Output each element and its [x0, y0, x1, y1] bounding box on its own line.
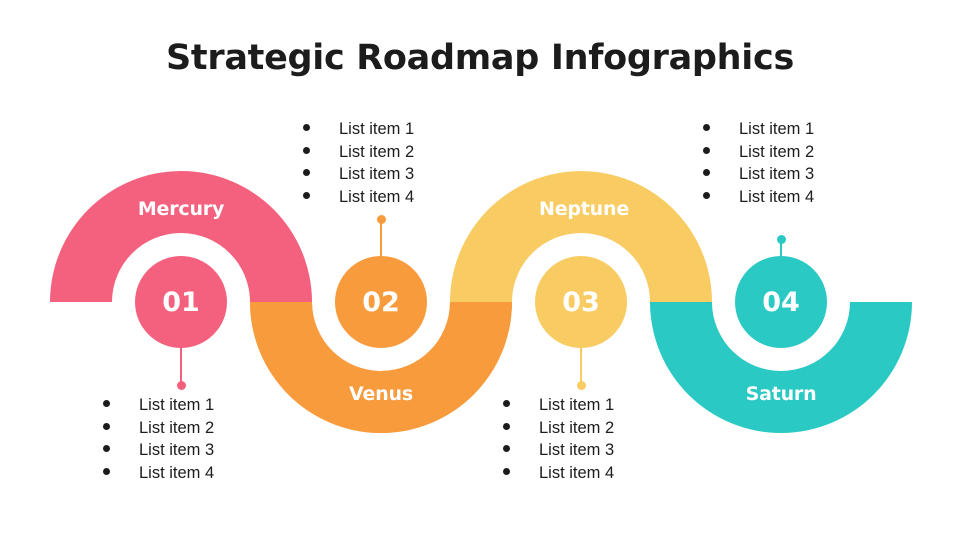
list-item: List item 2	[303, 143, 414, 166]
bullet-list-03: List item 1 List item 2 List item 3 List…	[503, 396, 614, 486]
bullet-dot-icon	[703, 192, 710, 199]
arc-label-neptune: Neptune	[539, 198, 629, 220]
list-item: List item 4	[303, 188, 414, 211]
connector-line-02	[380, 219, 382, 256]
connector-dot-01	[177, 381, 186, 390]
connector-dot-02	[377, 215, 386, 224]
list-item: List item 1	[503, 396, 614, 419]
list-item: List item 1	[703, 120, 814, 143]
bullet-dot-icon	[303, 192, 310, 199]
list-item-text: List item 4	[539, 464, 614, 483]
list-item: List item 1	[303, 120, 414, 143]
list-item: List item 3	[103, 441, 214, 464]
list-item-text: List item 1	[339, 120, 414, 139]
step-number-04: 04	[762, 289, 800, 316]
list-item: List item 3	[703, 165, 814, 188]
step-circle-02[interactable]: 02	[335, 256, 427, 348]
bullet-dot-icon	[103, 423, 110, 430]
bullet-dot-icon	[103, 400, 110, 407]
bullet-dot-icon	[503, 423, 510, 430]
bullet-dot-icon	[303, 124, 310, 131]
list-item: List item 1	[103, 396, 214, 419]
bullet-dot-icon	[503, 400, 510, 407]
bullet-list-02: List item 1 List item 2 List item 3 List…	[303, 120, 414, 210]
connector-line-01	[180, 348, 182, 385]
bullet-dot-icon	[703, 124, 710, 131]
list-item-text: List item 1	[539, 396, 614, 415]
list-item: List item 3	[303, 165, 414, 188]
arc-label-venus: Venus	[349, 383, 413, 405]
list-item-text: List item 2	[739, 143, 814, 162]
bullet-list-01: List item 1 List item 2 List item 3 List…	[103, 396, 214, 486]
step-circle-01[interactable]: 01	[135, 256, 227, 348]
list-item-text: List item 3	[539, 441, 614, 460]
step-number-01: 01	[162, 289, 200, 316]
arc-label-mercury: Mercury	[138, 198, 224, 220]
list-item-text: List item 4	[139, 464, 214, 483]
connector-dot-03	[577, 381, 586, 390]
list-item-text: List item 2	[139, 419, 214, 438]
arc-label-saturn: Saturn	[746, 383, 817, 405]
bullet-dot-icon	[303, 169, 310, 176]
slide-canvas: Strategic Roadmap Infographics	[0, 0, 960, 540]
list-item: List item 2	[503, 419, 614, 442]
bullet-dot-icon	[503, 468, 510, 475]
bullet-dot-icon	[303, 147, 310, 154]
list-item: List item 4	[103, 464, 214, 487]
list-item-text: List item 3	[739, 165, 814, 184]
step-number-02: 02	[362, 289, 400, 316]
list-item-text: List item 1	[139, 396, 214, 415]
list-item-text: List item 1	[739, 120, 814, 139]
list-item: List item 2	[703, 143, 814, 166]
list-item: List item 2	[103, 419, 214, 442]
bullet-dot-icon	[103, 445, 110, 452]
connector-line-03	[580, 348, 582, 385]
list-item-text: List item 4	[339, 188, 414, 207]
list-item: List item 4	[703, 188, 814, 211]
list-item: List item 4	[503, 464, 614, 487]
bullet-dot-icon	[503, 445, 510, 452]
list-item: List item 3	[503, 441, 614, 464]
bullet-list-04: List item 1 List item 2 List item 3 List…	[703, 120, 814, 210]
bullet-dot-icon	[703, 147, 710, 154]
step-circle-03[interactable]: 03	[535, 256, 627, 348]
connector-dot-04	[777, 235, 786, 244]
step-number-03: 03	[562, 289, 600, 316]
bullet-dot-icon	[103, 468, 110, 475]
list-item-text: List item 3	[339, 165, 414, 184]
list-item-text: List item 4	[739, 188, 814, 207]
list-item-text: List item 2	[339, 143, 414, 162]
list-item-text: List item 3	[139, 441, 214, 460]
connector-line-04	[780, 239, 782, 276]
list-item-text: List item 2	[539, 419, 614, 438]
bullet-dot-icon	[703, 169, 710, 176]
page-title: Strategic Roadmap Infographics	[0, 38, 960, 78]
